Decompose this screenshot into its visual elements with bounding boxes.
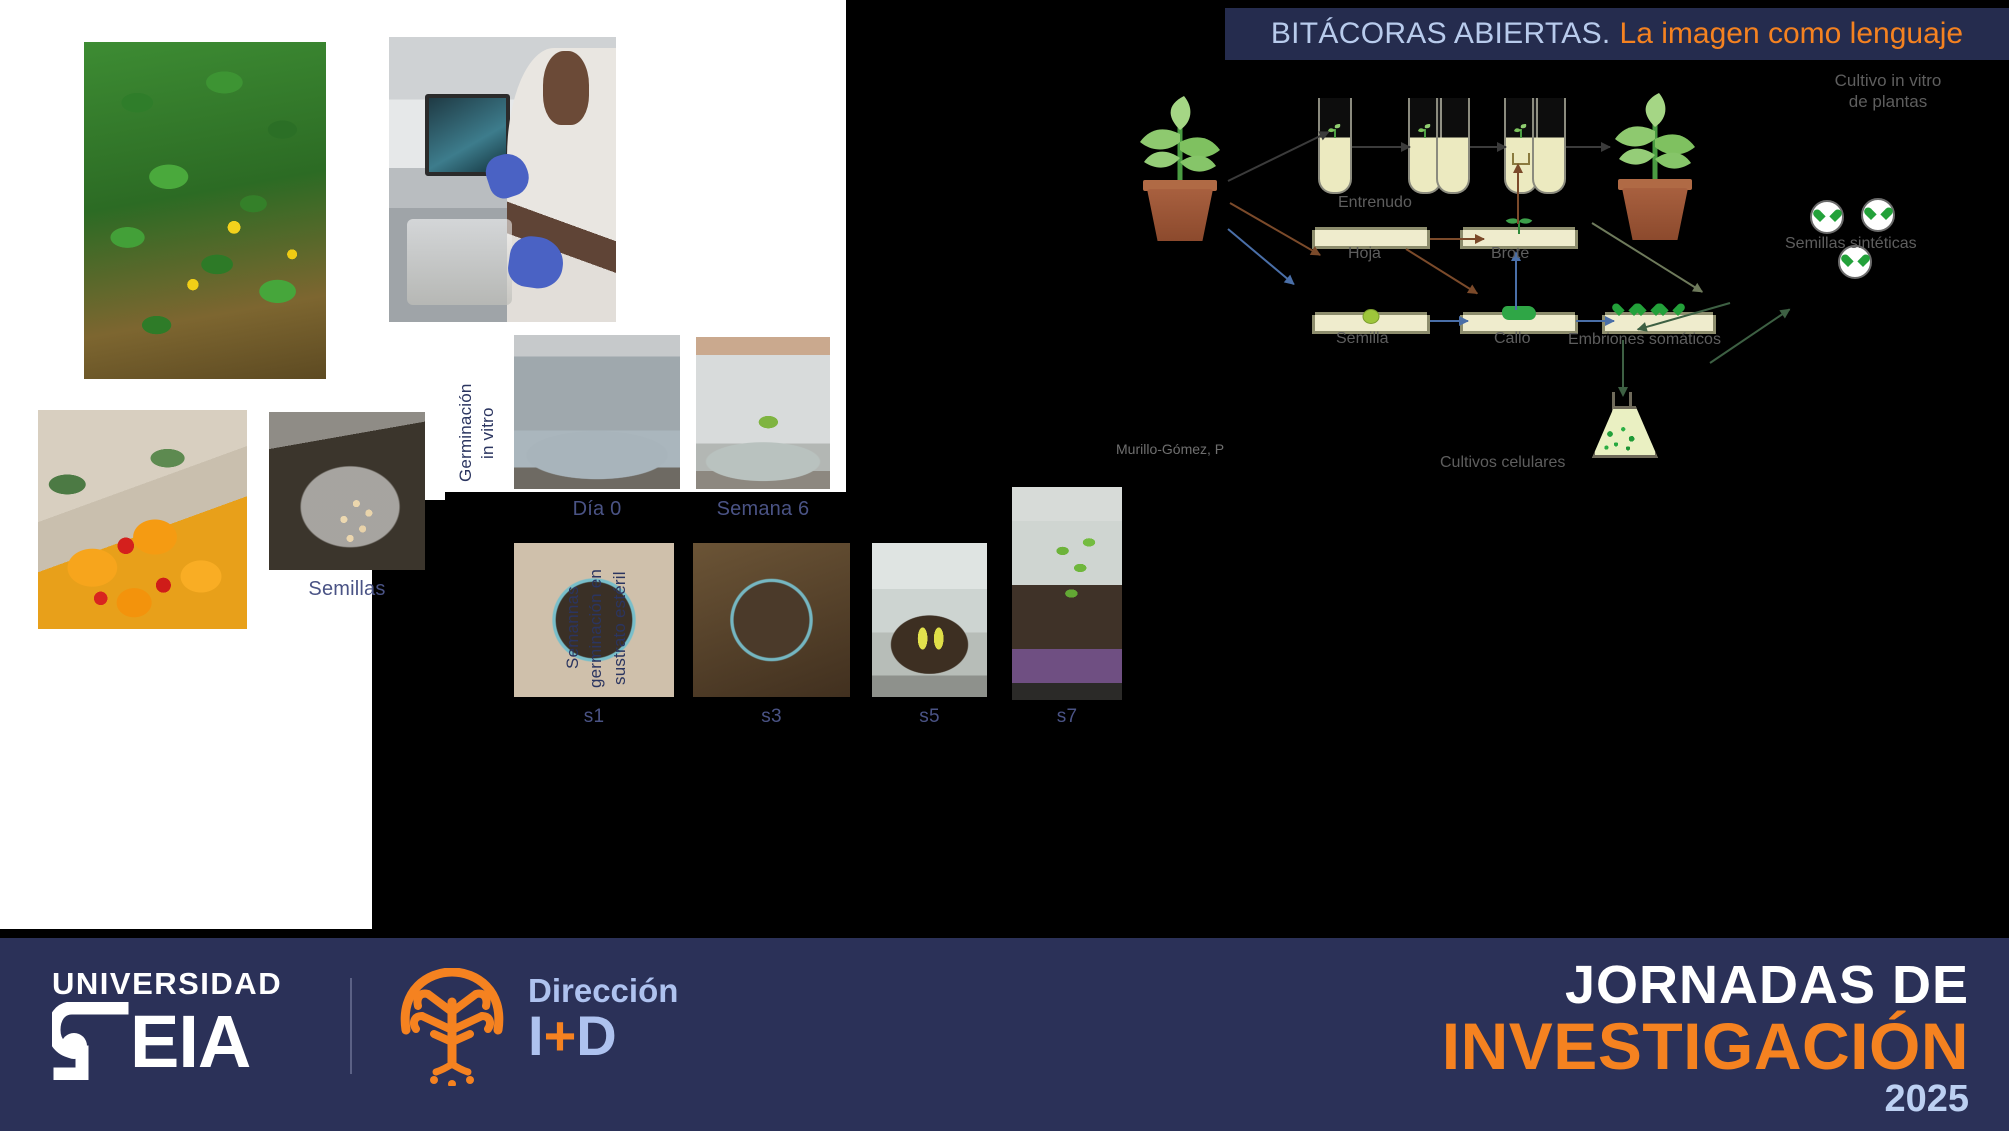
diagram-label-semillas-sinteticas: Semillas sintéticas [1785,235,1917,253]
petri-dish-s3-photo [693,543,850,697]
diagram-label-callo: Callo [1494,330,1530,348]
test-tube-second-b [1436,98,1470,194]
caption-s5: s5 [872,706,987,728]
diagram-label-embriones-somaticos: Embriones somáticos [1568,331,1721,349]
fruit-with-red-seeds-photo [38,410,247,629]
caption-s3: s3 [693,706,850,728]
idd-text: I+D [528,1008,678,1064]
caption-s1: s1 [514,706,674,728]
arrow-callo-to-brote [1515,260,1517,310]
jar-week-6-photo [696,337,830,489]
jornadas-line-1: JORNADAS DE [1442,958,1969,1013]
sprout-icon [1506,216,1532,234]
pot-body-right [1622,188,1688,240]
culture-jars [407,219,511,305]
caption-semillas: Semillas [269,578,425,601]
seeds-in-glass-photo [269,412,425,570]
arrow-hoja-to-brote [1430,238,1484,240]
arrow-tube-2-to-3 [1470,146,1506,148]
technician-face [543,51,588,125]
test-tube-rooted-b [1532,98,1566,194]
diagram-label-hoja: Hoja [1348,245,1381,263]
caption-semana-6: Semana 6 [692,498,834,521]
arrow-callo-to-embriones [1576,320,1614,322]
callus-icon [1502,306,1536,320]
header-title-accent: La imagen como lenguaje [1620,17,1964,51]
caption-dia-0: Día 0 [514,498,680,521]
jornadas-year: 2025 [1442,1079,1969,1121]
diagram-label-entrenudo: Entrenudo [1338,194,1412,212]
diagram-label-semilla: Semilla [1336,330,1388,348]
header-title-main: BITÁCORAS ABIERTAS. [1271,17,1611,51]
direccion-idd-logo: Dirección I+D [528,972,678,1064]
diagram-title-line1: Cultivo in vitro [1793,70,1983,91]
arrow-embriones-to-semillas [1709,308,1790,363]
logo-universidad-text: UNIVERSIDAD [52,966,322,1002]
label-germinacion-in-vitro: Germinación in vitro [455,368,499,498]
gloved-hand-upper [481,149,533,202]
pot-body [1147,189,1213,241]
label-semanas-line3: sustrato estéril [609,558,630,698]
diagram-label-brote: Brote [1491,245,1529,263]
label-semanas-line2: germinación en [585,558,606,698]
synthetic-seed-icon-2 [1861,198,1895,232]
label-semanas-sustrato: Semannas germinación en sustrato estéril [562,558,630,698]
idd-d: D [576,1004,616,1067]
jornadas-investigacion-title: JORNADAS DE INVESTIGACIÓN 2025 [1442,958,1969,1121]
arrow-hoja-to-callo [1405,248,1477,294]
cell-culture-flask-icon [1592,392,1652,458]
label-semanas-line1: Semannas [562,558,583,698]
diagram-attribution: Murillo-Gómez, P [1116,441,1224,457]
eia-mark-icon [52,1002,130,1080]
jar-day-0-photo [514,335,680,489]
seed-icon [1363,309,1380,324]
diagram-label-cultivos-celulares: Cultivos celulares [1440,454,1565,472]
label-germinacion-line2: in vitro [477,368,498,498]
test-tube-entrenudo [1318,98,1352,194]
logo-divider [350,978,352,1074]
arrow-brote-to-tube [1517,172,1519,224]
potted-plant-result-icon [1600,92,1710,240]
diagram-title: Cultivo in vitro de plantas [1793,70,1983,113]
header-banner: BITÁCORAS ABIERTAS. La imagen como lengu… [1225,8,2009,60]
potted-plant-source-icon [1125,96,1235,241]
jornadas-line-2: INVESTIGACIÓN [1442,1013,1969,1079]
jar-s5-photo [872,543,987,697]
idd-i: I [528,1004,544,1067]
dish-hoja-cap [1315,227,1427,230]
logo-eia-text: EIA [130,1009,250,1076]
tree-icon [390,968,514,1086]
synthetic-seed-icon-1 [1810,200,1844,234]
arrow-plant-to-semilla [1227,228,1294,285]
plant-field-photo [84,42,326,379]
arrow-plant-to-entrenudo [1228,131,1330,182]
arrow-semilla-to-callo [1430,320,1468,322]
arrow-tube-3-to-plant [1566,146,1610,148]
diagram-title-line2: de plantas [1793,91,1983,112]
gloved-hand-lower [506,233,567,291]
arrow-tube-1-to-2 [1352,146,1410,148]
in-vitro-culture-diagram: Cultivo in vitro de plantas [1130,62,2009,532]
arrow-plant-to-hoja [1230,202,1321,256]
jar-s7-photo [1012,487,1122,700]
universidad-eia-logo: UNIVERSIDAD EIA [52,966,322,1088]
caption-s7: s7 [1012,706,1122,728]
idd-plus: + [544,1004,577,1067]
label-germinacion-line1: Germinación [455,368,476,498]
lab-technician-photo [389,37,616,322]
somatic-embryo-icons [1619,304,1678,318]
